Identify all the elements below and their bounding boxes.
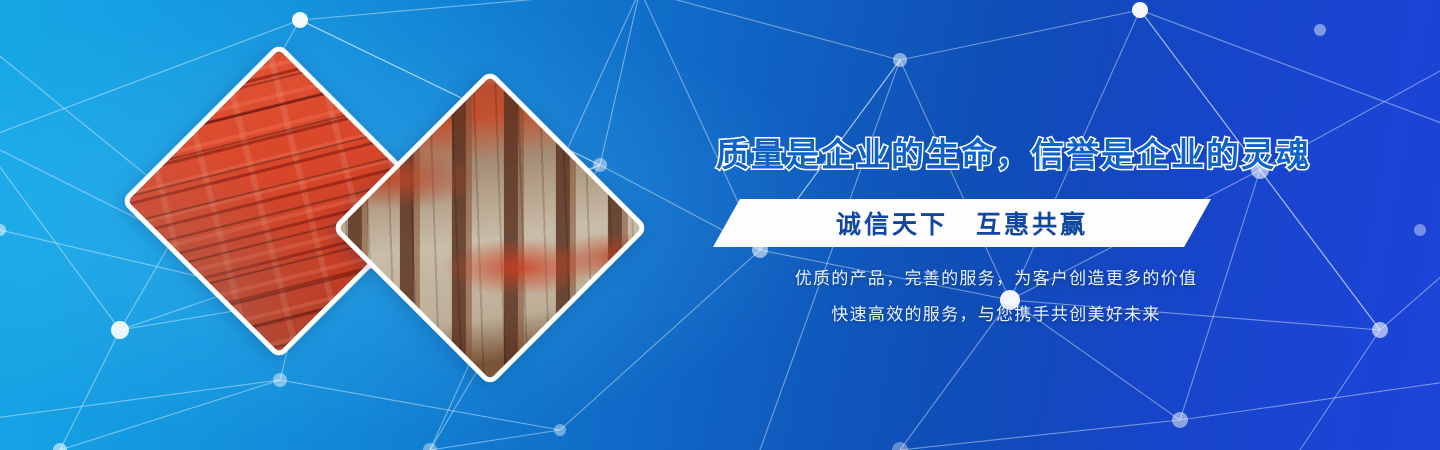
subtitle-line-2: 快速高效的服务，与您携手共创美好未来 [716,300,1276,325]
promo-banner: 质量是企业的生命，信誉是企业的灵魂 诚信天下 互惠共赢 优质的产品，完善的服务，… [0,0,1440,450]
slogan-ribbon-text: 诚信天下 互惠共赢 [713,199,1211,247]
banner-headline: 质量是企业的生命，信誉是企业的灵魂 [716,135,1276,175]
subtitle-line-1: 优质的产品，完善的服务，为客户创造更多的价值 [716,264,1276,289]
